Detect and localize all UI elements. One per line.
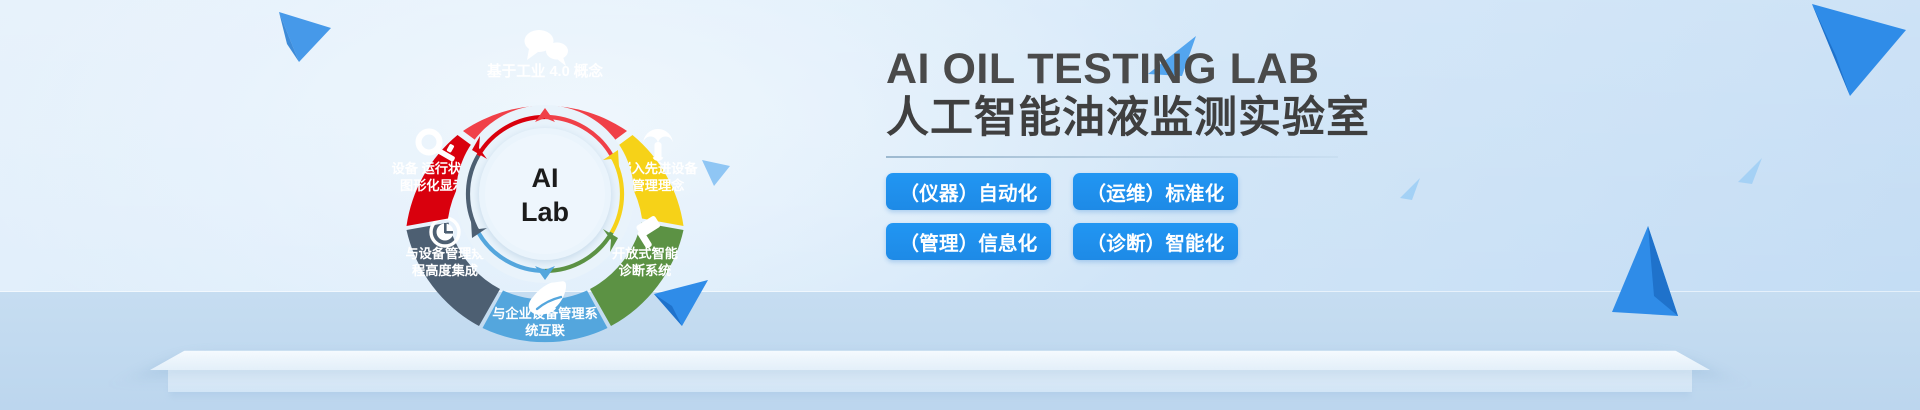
ai-lab-capability-wheel: 基于工业 4.0 概念 嵌入先进设备 管理理念 bbox=[345, 0, 745, 394]
wheel-hub-inner bbox=[485, 134, 605, 254]
feature-pill-management-informatization[interactable]: （管理）信息化 bbox=[886, 223, 1051, 260]
decor-triangle-icon bbox=[1736, 156, 1766, 186]
feature-pill-diagnosis-intelligence[interactable]: （诊断）智能化 bbox=[1073, 223, 1238, 260]
wheel-segment-label: 统互联 bbox=[525, 322, 565, 338]
wheel-hub-label-lab: Lab bbox=[521, 197, 569, 227]
headline-chinese: 人工智能油液监测实验室 bbox=[886, 94, 1646, 142]
wheel-segment-label: 诊断系统 bbox=[619, 262, 672, 278]
wheel-hub-label-ai: AI bbox=[532, 163, 559, 193]
decor-triangle-icon bbox=[1806, 0, 1912, 106]
headline-english: AI OIL TESTING LAB bbox=[886, 46, 1646, 92]
feature-pill-group: （仪器）自动化 （运维）标准化 （管理）信息化 （诊断）智能化 bbox=[886, 173, 1256, 260]
ai-oil-testing-lab-banner: 基于工业 4.0 概念 嵌入先进设备 管理理念 bbox=[0, 0, 1920, 410]
wheel-segment-label: 程高度集成 bbox=[412, 262, 478, 278]
wheel-segment-label: 基于工业 4.0 概念 bbox=[486, 62, 603, 80]
wheel-segment-label: 开放式智能 bbox=[612, 245, 678, 261]
feature-pill-operations-standardization[interactable]: （运维）标准化 bbox=[1073, 173, 1238, 210]
feature-pill-instrument-automation[interactable]: （仪器）自动化 bbox=[886, 173, 1051, 210]
headline-divider bbox=[886, 156, 1338, 158]
wheel-segment-enterprise-interconnection[interactable]: 与企业设备管理系 统互联 bbox=[483, 281, 608, 342]
chat-bubbles-icon bbox=[525, 30, 569, 66]
decor-triangle-icon bbox=[273, 6, 335, 68]
wheel-segment-label: 管理理念 bbox=[632, 177, 686, 193]
headline-block: AI OIL TESTING LAB 人工智能油液监测实验室 （仪器）自动化 （… bbox=[886, 46, 1646, 260]
